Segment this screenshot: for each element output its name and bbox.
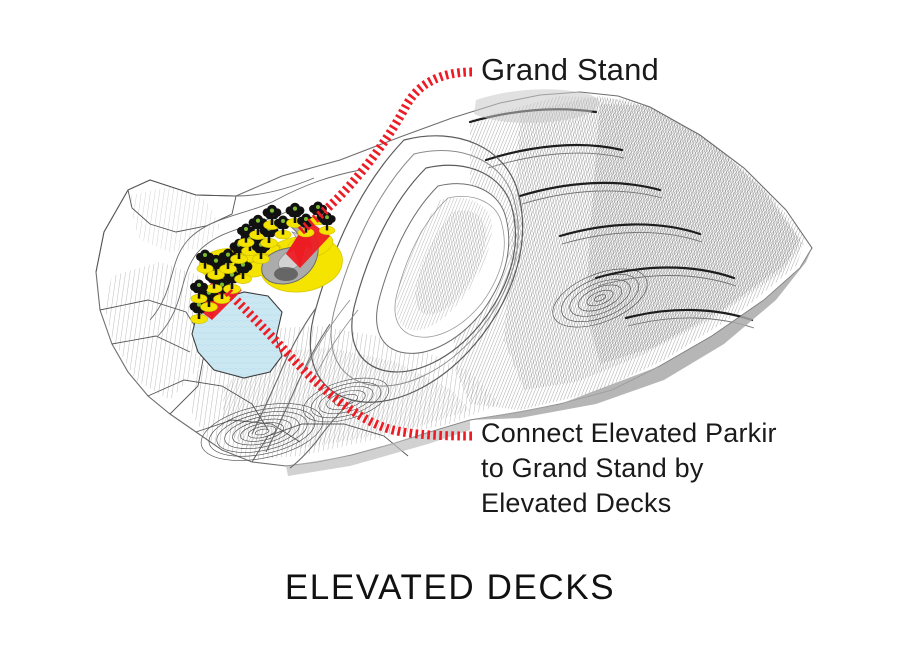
- annotation-connect: Connect Elevated Parkir to Grand Stand b…: [481, 416, 777, 521]
- annotation-connect-line-2: to Grand Stand by: [481, 451, 777, 486]
- page-title: ELEVATED DECKS: [0, 568, 900, 608]
- annotation-grand-stand: Grand Stand: [481, 52, 659, 88]
- site-diagram-canvas: [0, 0, 900, 667]
- annotation-connect-line-3: Elevated Decks: [481, 486, 777, 521]
- annotation-connect-line-1: Connect Elevated Parkir: [481, 416, 777, 451]
